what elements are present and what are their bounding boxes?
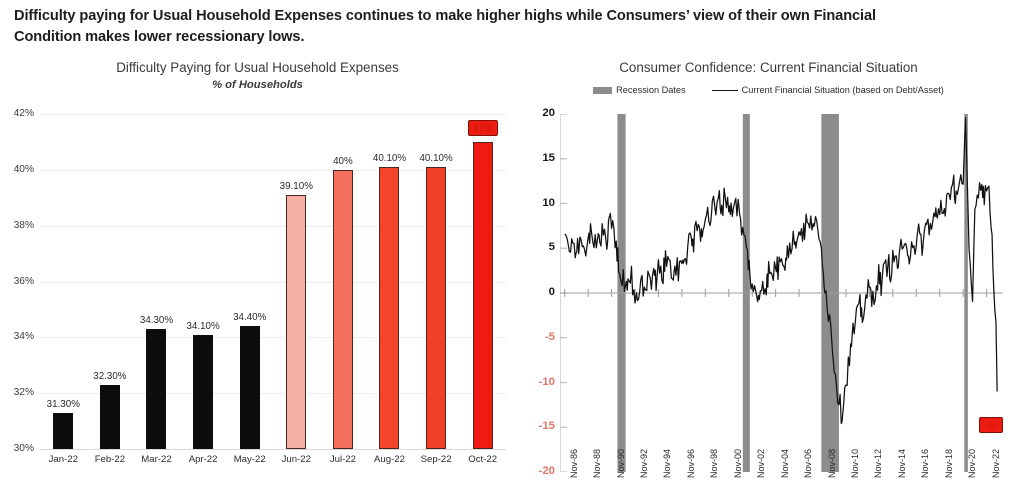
bar-slot[interactable]: 34.40% — [226, 114, 273, 449]
bar-x-tick-label: Feb-22 — [87, 454, 134, 465]
bar[interactable] — [473, 142, 493, 449]
bar-y-tick-label: 32% — [0, 387, 34, 398]
bar-x-axis-line — [40, 449, 506, 450]
legend-label: Recession Dates — [616, 85, 685, 95]
line-x-tick-label: Nov-04 — [780, 449, 790, 478]
bar-slot[interactable]: 41% — [459, 114, 506, 449]
bar[interactable] — [379, 167, 399, 449]
bar-value-label: 34.10% — [186, 321, 219, 332]
bar-value-label-highlight: 41% — [468, 120, 498, 136]
bar[interactable] — [53, 413, 73, 449]
bar-x-tick-label: Oct-22 — [459, 454, 506, 465]
line-end-value-callout: -11 — [979, 417, 1003, 433]
line-x-tick-label: Nov-00 — [733, 449, 743, 478]
line-y-tick-label: -15 — [515, 420, 555, 432]
bar-slot[interactable]: 31.30% — [40, 114, 87, 449]
bar-x-tick-label: Jul-22 — [320, 454, 367, 465]
line-swatch-icon — [712, 90, 738, 91]
slide-root: Difficulty paying for Usual Household Ex… — [0, 0, 1020, 486]
legend-label: Current Financial Situation (based on De… — [742, 85, 944, 95]
left-chart-panel: Difficulty Paying for Usual Household Ex… — [0, 52, 515, 486]
line-x-tick-label: Nov-08 — [827, 449, 837, 478]
bar[interactable] — [286, 195, 306, 449]
line-y-tick-label: 0 — [515, 286, 555, 298]
bar-y-tick-label: 36% — [0, 276, 34, 287]
right-chart-panel: Consumer Confidence: Current Financial S… — [517, 52, 1020, 486]
line-y-tick-label: -5 — [515, 331, 555, 343]
left-chart-subtitle: % of Households — [0, 79, 515, 91]
line-x-tick-label: Nov-92 — [639, 449, 649, 478]
bar-chart-plot-area: 30%32%34%36%38%40%42% 31.30%32.30%34.30%… — [40, 114, 506, 449]
bar-y-tick-label: 34% — [0, 331, 34, 342]
bar-slot[interactable]: 40% — [320, 114, 367, 449]
bar-y-tick-label: 42% — [0, 108, 34, 119]
bar-value-label: 40% — [333, 156, 353, 167]
line-chart-plot-area: 20151050-5-10-15-20 — [560, 114, 1003, 472]
bar-x-tick-label: May-22 — [226, 454, 273, 465]
line-y-tick-label: 5 — [515, 241, 555, 253]
bar-slot[interactable]: 32.30% — [87, 114, 134, 449]
legend-item[interactable]: Current Financial Situation (based on De… — [712, 85, 944, 95]
line-x-tick-label: Nov-12 — [873, 449, 883, 478]
bar-x-tick-label: Aug-22 — [366, 454, 413, 465]
bar-value-label: 32.30% — [93, 371, 126, 382]
bar[interactable] — [333, 170, 353, 449]
bar-x-tick-label: Jun-22 — [273, 454, 320, 465]
line-x-tick-label: Nov-20 — [967, 449, 977, 478]
bar-x-tick-label: Sep-22 — [413, 454, 460, 465]
line-x-tick-label: Nov-16 — [920, 449, 930, 478]
bar[interactable] — [100, 385, 120, 449]
line-y-tick-label: 15 — [515, 152, 555, 164]
legend-item[interactable]: Recession Dates — [593, 85, 685, 95]
bar-value-label: 34.30% — [140, 315, 173, 326]
bar-slot[interactable]: 34.10% — [180, 114, 227, 449]
recession-swatch-icon — [593, 87, 612, 94]
line-y-tick-label: -10 — [515, 376, 555, 388]
line-x-tick-label: Nov-18 — [944, 449, 954, 478]
bar[interactable] — [146, 329, 166, 449]
line-x-tick-label: Nov-98 — [709, 449, 719, 478]
bar[interactable] — [240, 326, 260, 449]
bar-series: 31.30%32.30%34.30%34.10%34.40%39.10%40%4… — [40, 114, 506, 449]
bar[interactable] — [193, 335, 213, 449]
headline-text: Difficulty paying for Usual Household Ex… — [14, 6, 914, 48]
line-series-current-financial-situation[interactable] — [565, 118, 997, 424]
line-x-tick-label: Nov-96 — [686, 449, 696, 478]
line-x-tick-label: Nov-22 — [991, 449, 1001, 478]
bar-x-tick-label: Mar-22 — [133, 454, 180, 465]
line-x-tick-label: Nov-06 — [803, 449, 813, 478]
line-x-tick-label: Nov-86 — [569, 449, 579, 478]
bar-x-tick-label: Jan-22 — [40, 454, 87, 465]
bar-slot[interactable]: 40.10% — [413, 114, 460, 449]
line-x-tick-label: Nov-14 — [897, 449, 907, 478]
bar-value-label: 34.40% — [233, 312, 266, 323]
bar[interactable] — [426, 167, 446, 449]
line-y-tick-label: 10 — [515, 197, 555, 209]
line-chart-svg — [560, 114, 1003, 472]
bar-slot[interactable]: 34.30% — [133, 114, 180, 449]
bar-slot[interactable]: 40.10% — [366, 114, 413, 449]
line-x-tick-label: Nov-10 — [850, 449, 860, 478]
bar-y-tick-label: 38% — [0, 220, 34, 231]
bar-x-tick-label: Apr-22 — [180, 454, 227, 465]
bar-y-tick-label: 30% — [0, 443, 34, 454]
right-chart-legend: Recession DatesCurrent Financial Situati… — [517, 85, 1020, 95]
line-y-tick-label: -20 — [515, 465, 555, 477]
line-x-tick-label: Nov-02 — [756, 449, 766, 478]
bar-value-label: 31.30% — [47, 399, 80, 410]
line-x-tick-label: Nov-90 — [616, 449, 626, 478]
bar-slot[interactable]: 39.10% — [273, 114, 320, 449]
right-chart-title: Consumer Confidence: Current Financial S… — [517, 60, 1020, 75]
line-y-tick-label: 20 — [515, 107, 555, 119]
left-chart-title: Difficulty Paying for Usual Household Ex… — [0, 60, 515, 75]
bar-y-tick-label: 40% — [0, 164, 34, 175]
line-x-tick-label: Nov-88 — [592, 449, 602, 478]
bar-value-label: 40.10% — [373, 153, 406, 164]
bar-value-label: 39.10% — [280, 181, 313, 192]
line-x-tick-label: Nov-94 — [662, 449, 672, 478]
bar-value-label: 40.10% — [419, 153, 452, 164]
